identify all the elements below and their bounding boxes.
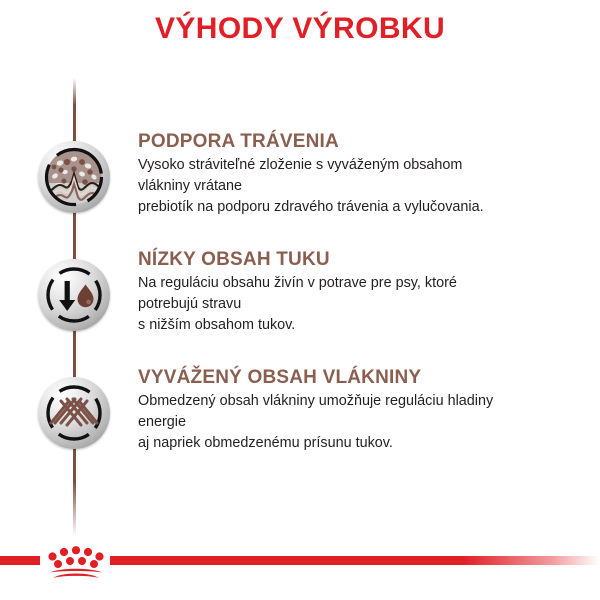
benefit-item: NÍZKY OBSAH TUKU Na reguláciu obsahu živ… <box>0 248 600 366</box>
benefit-body-line: vlákniny vrátane <box>138 176 588 197</box>
fibre-mesh-icon <box>38 377 110 449</box>
product-benefits-page: VÝHODY VÝROBKU <box>0 0 600 600</box>
footer-rule-right <box>110 556 600 565</box>
benefits-list: PODPORA TRÁVENIA Vysoko stráviteľné zlož… <box>0 130 600 484</box>
low-fat-icon <box>38 259 110 331</box>
benefit-body-line: Vysoko stráviteľné zloženie s vyváženým … <box>138 155 588 176</box>
benefit-heading: NÍZKY OBSAH TUKU <box>138 248 588 272</box>
benefit-body: Obmedzený obsah vlákniny umožňuje regulá… <box>138 391 588 454</box>
benefit-body-line: Obmedzený obsah vlákniny umožňuje regulá… <box>138 391 588 412</box>
benefit-body-line: prebiotík na podporu zdravého trávenia a… <box>138 197 588 218</box>
benefit-body-line: aj napriek obmedzenému prísunu tukov. <box>138 433 588 454</box>
benefit-body-line: Na reguláciu obsahu živín v potrave pre … <box>138 273 588 294</box>
benefit-text: NÍZKY OBSAH TUKU Na reguláciu obsahu živ… <box>138 248 588 336</box>
benefit-body: Vysoko stráviteľné zloženie s vyváženým … <box>138 155 588 218</box>
benefit-text: PODPORA TRÁVENIA Vysoko stráviteľné zlož… <box>138 130 588 218</box>
benefit-body-line: energie <box>138 412 588 433</box>
benefit-heading: VYVÁŽENÝ OBSAH VLÁKNINY <box>138 366 588 390</box>
benefit-text: VYVÁŽENÝ OBSAH VLÁKNINY Obmedzený obsah … <box>138 366 588 454</box>
benefit-body-line: potrebujú stravu <box>138 294 588 315</box>
benefit-item: VYVÁŽENÝ OBSAH VLÁKNINY Obmedzený obsah … <box>0 366 600 484</box>
benefit-heading: PODPORA TRÁVENIA <box>138 130 588 154</box>
benefit-body-line: s nižším obsahom tukov. <box>138 315 588 336</box>
benefit-item: PODPORA TRÁVENIA Vysoko stráviteľné zlož… <box>0 130 600 248</box>
footer-brand-bar <box>0 528 600 600</box>
footer-rule-left <box>0 556 40 565</box>
royal-canin-crown-logo <box>42 542 110 582</box>
benefit-body: Na reguláciu obsahu živín v potrave pre … <box>138 273 588 336</box>
digestion-icon <box>38 141 110 213</box>
page-title: VÝHODY VÝROBKU <box>0 11 600 47</box>
